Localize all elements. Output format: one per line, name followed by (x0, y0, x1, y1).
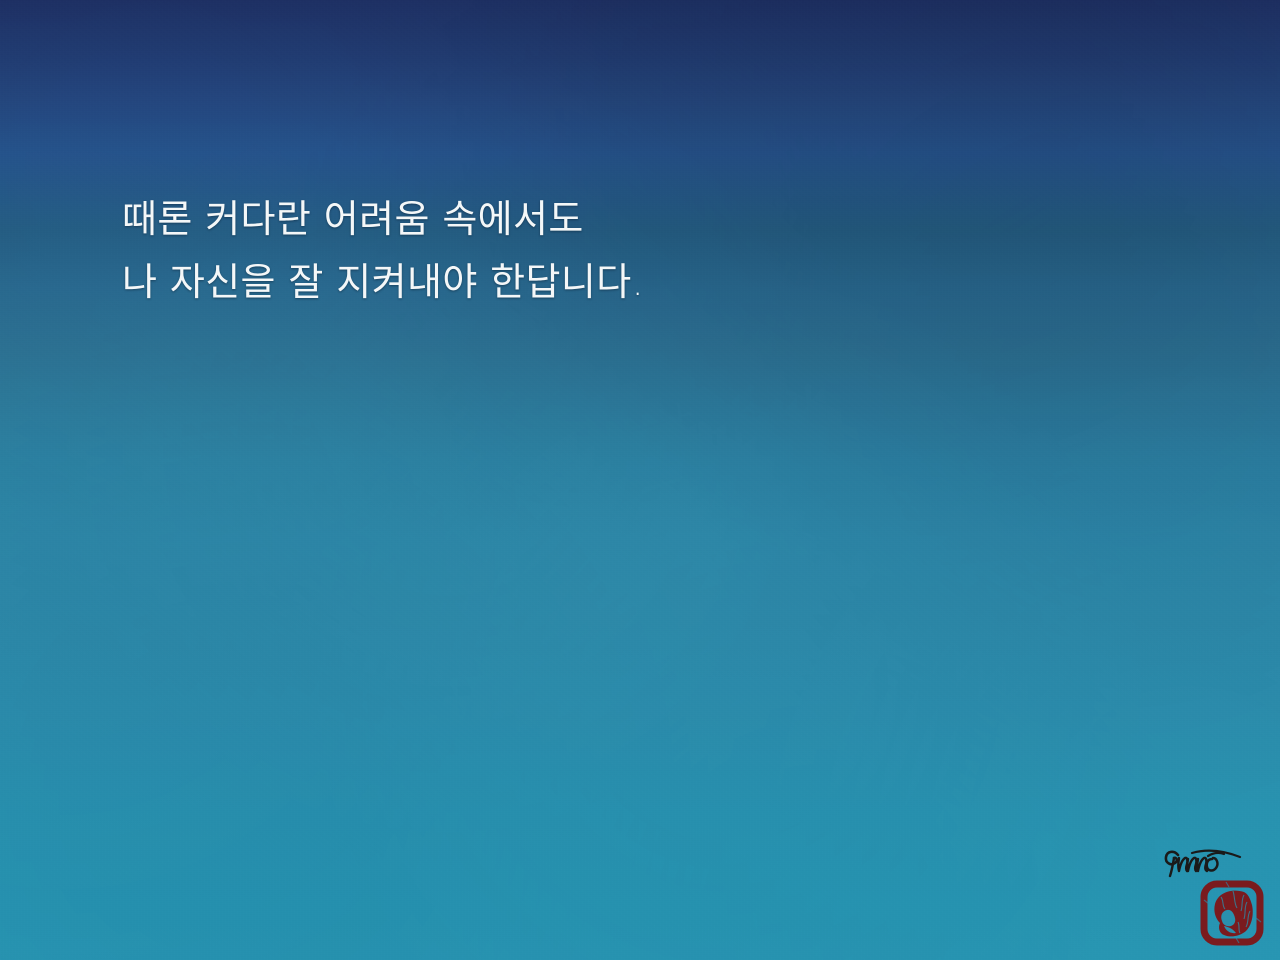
background-grain (0, 0, 1280, 960)
slide-canvas: 때론 커다란 어려움 속에서도 나 자신을 잘 지켜내야 한답니다. (0, 0, 1280, 960)
artist-mark (1162, 846, 1266, 950)
quote-line-1: 때론 커다란 어려움 속에서도 (122, 188, 1022, 251)
quote-text-block: 때론 커다란 어려움 속에서도 나 자신을 잘 지켜내야 한답니다. (122, 188, 1022, 314)
artist-seal-icon (1200, 878, 1264, 946)
artist-signature-icon (1162, 846, 1248, 880)
quote-line-2: 나 자신을 잘 지켜내야 한답니다. (122, 251, 1022, 314)
